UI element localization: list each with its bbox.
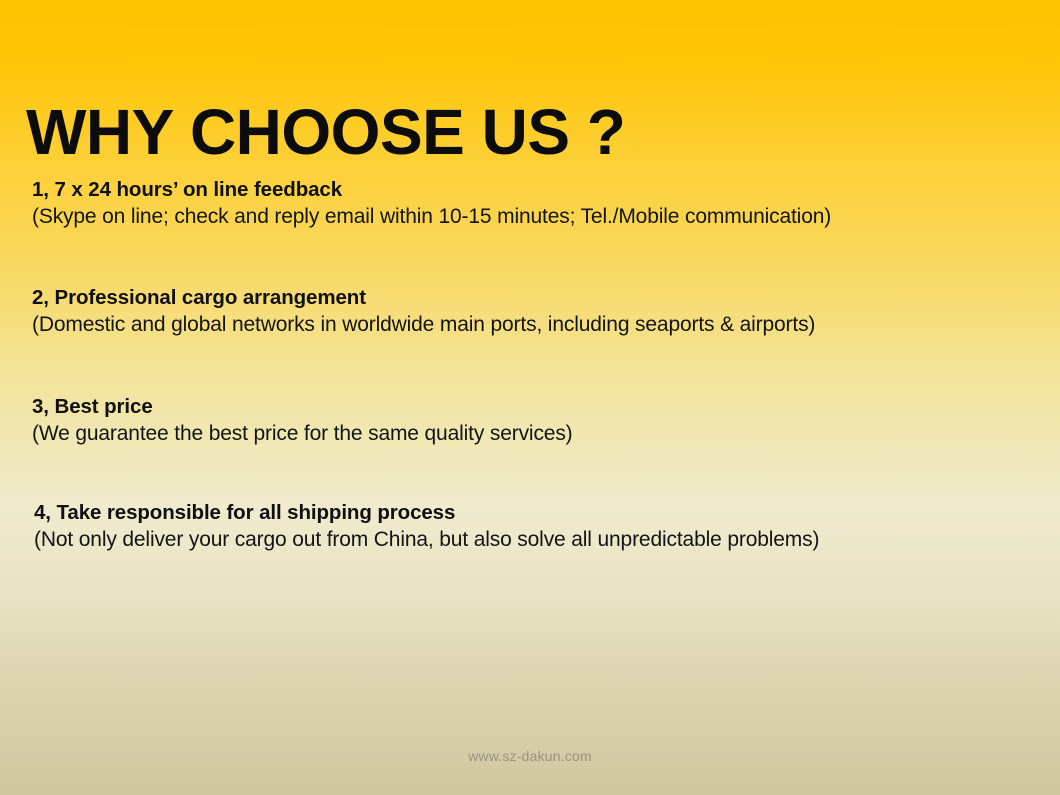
- benefit-heading-4: 4, Take responsible for all shipping pro…: [34, 499, 1060, 526]
- page-title: WHY CHOOSE US ?: [26, 99, 625, 166]
- benefit-detail-2: (Domestic and global networks in worldwi…: [32, 311, 1060, 340]
- list-item: 3, Best price (We guarantee the best pri…: [0, 393, 1060, 449]
- list-item: 2, Professional cargo arrangement (Domes…: [0, 284, 1060, 340]
- list-item: 4, Take responsible for all shipping pro…: [0, 499, 1060, 555]
- benefit-detail-1: (Skype on line; check and reply email wi…: [32, 203, 1060, 232]
- benefit-detail-3: (We guarantee the best price for the sam…: [32, 420, 1060, 449]
- benefit-heading-3: 3, Best price: [32, 393, 1060, 420]
- footer-website: www.sz-dakun.com: [0, 748, 1060, 764]
- benefit-heading-2: 2, Professional cargo arrangement: [32, 284, 1060, 311]
- benefit-heading-1: 1, 7 x 24 hours’ on line feedback: [32, 176, 1060, 203]
- benefit-detail-4: (Not only deliver your cargo out from Ch…: [34, 526, 1060, 555]
- list-item: 1, 7 x 24 hours’ on line feedback (Skype…: [0, 176, 1060, 232]
- benefits-list: 1, 7 x 24 hours’ on line feedback (Skype…: [0, 176, 1060, 555]
- slide-canvas: WHY CHOOSE US ? 1, 7 x 24 hours’ on line…: [0, 0, 1060, 795]
